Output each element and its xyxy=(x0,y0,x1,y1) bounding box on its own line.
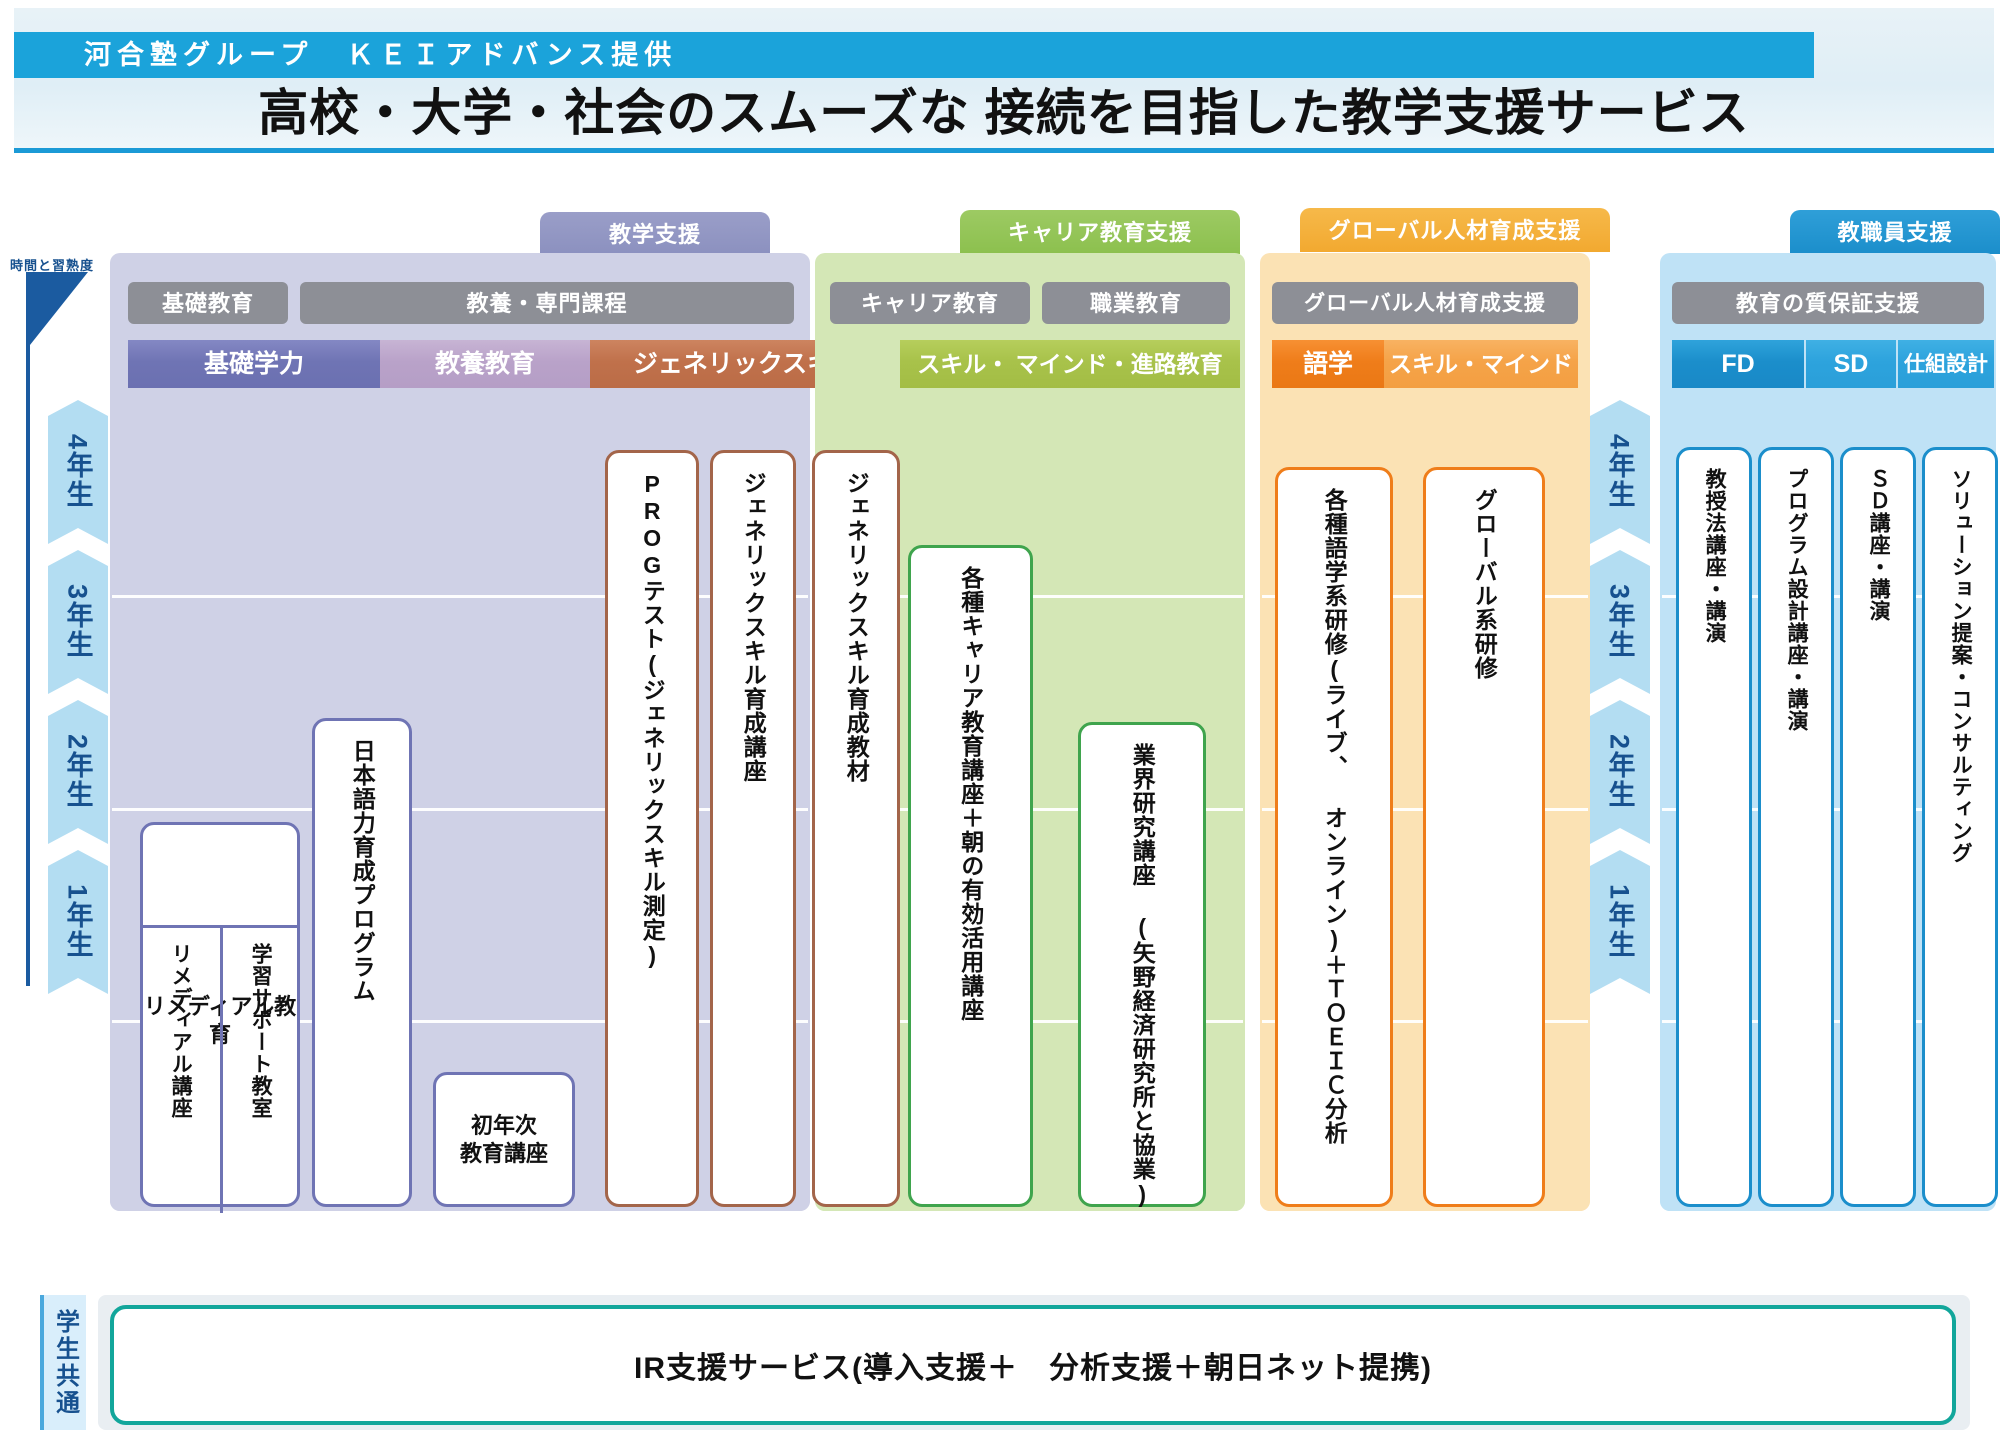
diagram-page: 河合塾グループ ＫＥＩアドバンス提供 高校・大学・社会のスムーズな 接続を目指し… xyxy=(0,0,2008,1446)
category-band-kiso-gakuryoku: 基礎学力 xyxy=(128,340,380,388)
card-generic-material[interactable]: ジェネリックスキル育成教材 xyxy=(812,450,900,1207)
card-remedial-group[interactable]: リメディアル教育 リメディアル講座 学習サポート教室 xyxy=(140,822,300,1207)
card-label: PROGテスト(ジェネリックスキル測定) xyxy=(639,471,665,969)
year-divider xyxy=(112,808,808,811)
page-title: 高校・大学・社会のスムーズな 接続を目指した教学支援サービス xyxy=(14,82,1994,144)
card-language-training[interactable]: 各種語学系研修(ライブ、 オンライン)＋ＴＯＥＩＣ分析 xyxy=(1275,467,1393,1207)
category-band-sd: SD xyxy=(1806,340,1896,388)
student-common-label: 学生共通 xyxy=(48,1309,83,1417)
card-first-year[interactable]: 初年次 教育講座 xyxy=(433,1072,575,1207)
gray-band-shitsuhosho: 教育の質保証支援 xyxy=(1672,282,1984,324)
gray-band-shokugyo-kyoiku: 職業教育 xyxy=(1042,282,1230,324)
gray-band-career-kyoiku: キャリア教育 xyxy=(830,282,1030,324)
card-label: ＳＤ講座・講演 xyxy=(1866,468,1890,622)
student-common-side-label: 学生共通 xyxy=(40,1295,86,1430)
category-band-gogaku: 語学 xyxy=(1272,340,1384,388)
year-scale-right: 4年生 3年生 2年生 1年生 xyxy=(1590,400,1650,1000)
gray-band-kyoyo-senmon: 教養・専門課程 xyxy=(300,282,794,324)
gray-band-global-jinzai: グローバル人材育成支援 xyxy=(1272,282,1578,324)
card-label: ジェネリックスキル育成教材 xyxy=(843,471,869,783)
card-label: 業界研究講座 (矢野経済研究所と協業) xyxy=(1129,743,1155,1208)
card-generic-course[interactable]: ジェネリックスキル育成講座 xyxy=(710,450,796,1207)
card-label: 教授法講座・講演 xyxy=(1702,468,1726,644)
year-chip-1: 1年生 xyxy=(48,850,108,994)
year-chip-3: 3年生 xyxy=(48,550,108,694)
provider-band-label: 河合塾グループ ＫＥＩアドバンス提供 xyxy=(14,32,1814,78)
tab-career-kyoiku-shien[interactable]: キャリア教育支援 xyxy=(960,210,1240,254)
card-career-course[interactable]: 各種キャリア教育講座＋朝の有効活用講座 xyxy=(908,545,1033,1207)
tab-kyoshokuin-shien[interactable]: 教職員支援 xyxy=(1790,210,2000,254)
year-chip-1: 1年生 xyxy=(1590,850,1650,994)
card-label: ジェネリックスキル育成講座 xyxy=(740,471,766,783)
card-solution[interactable]: ソリューション提案・コンサルティング xyxy=(1922,447,1998,1207)
year-label: 4年生 xyxy=(1601,434,1640,509)
year-divider xyxy=(112,595,808,598)
year-label: 1年生 xyxy=(1601,884,1640,959)
card-industry-course[interactable]: 業界研究講座 (矢野経済研究所と協業) xyxy=(1078,722,1206,1207)
card-prog-test[interactable]: PROGテスト(ジェネリックスキル測定) xyxy=(605,450,699,1207)
category-band-fd: FD xyxy=(1672,340,1804,388)
card-label: グローバル系研修 xyxy=(1471,488,1497,680)
year-chip-2: 2年生 xyxy=(48,700,108,844)
bottom-bar-shell: IR支援サービス(導入支援＋ 分析支援＋朝日ネット提携) xyxy=(98,1295,1970,1430)
category-band-shikumi-sekkei: 仕組設計 xyxy=(1898,340,1994,388)
year-chip-4: 4年生 xyxy=(1590,400,1650,544)
year-label: 3年生 xyxy=(1601,584,1640,659)
year-chip-4: 4年生 xyxy=(48,400,108,544)
year-label: 2年生 xyxy=(1601,734,1640,809)
card-label: 学習サポート教室 xyxy=(248,943,272,1213)
category-band-kyoyo-kyoiku: 教養教育 xyxy=(380,340,590,388)
year-label: 1年生 xyxy=(59,884,98,959)
tab-global-jinzai-shien[interactable]: グローバル人材育成支援 xyxy=(1300,208,1610,252)
category-band-skill-mind-shinro: スキル・ マインド・進路教育 xyxy=(900,340,1240,388)
ir-support-label: IR支援サービス(導入支援＋ 分析支援＋朝日ネット提携) xyxy=(634,1343,1432,1387)
provider-band: 河合塾グループ ＫＥＩアドバンス提供 xyxy=(14,32,1814,78)
gray-band-kiso-kyoiku: 基礎教育 xyxy=(128,282,288,324)
bottom-common-section: 学生共通 IR支援サービス(導入支援＋ 分析支援＋朝日ネット提携) xyxy=(40,1295,1970,1430)
year-label: 4年生 xyxy=(59,434,98,509)
page-header: 河合塾グループ ＫＥＩアドバンス提供 高校・大学・社会のスムーズな 接続を目指し… xyxy=(14,8,1994,153)
card-program-design[interactable]: プログラム設計講座・講演 xyxy=(1758,447,1834,1207)
year-scale-left: 4年生 3年生 2年生 1年生 xyxy=(48,400,108,1000)
card-teaching-method[interactable]: 教授法講座・講演 xyxy=(1676,447,1752,1207)
year-label: 2年生 xyxy=(59,734,98,809)
tab-kyogaku-shien[interactable]: 教学支援 xyxy=(540,212,770,256)
axis-arrow-head xyxy=(26,272,88,350)
axis-line xyxy=(26,286,30,986)
year-label: 3年生 xyxy=(59,584,98,659)
year-chip-3: 3年生 xyxy=(1590,550,1650,694)
card-label: 初年次 教育講座 xyxy=(436,1112,572,1167)
card-label: プログラム設計講座・講演 xyxy=(1784,468,1808,732)
category-band-skill-mind: スキル・マインド xyxy=(1384,340,1578,388)
card-label: 日本語力育成プログラム xyxy=(349,739,375,1003)
card-label: 各種語学系研修(ライブ、 オンライン)＋ＴＯＥＩＣ分析 xyxy=(1321,488,1347,1145)
ir-support-bar[interactable]: IR支援サービス(導入支援＋ 分析支援＋朝日ネット提携) xyxy=(110,1305,1956,1425)
card-jp-language[interactable]: 日本語力育成プログラム xyxy=(312,718,412,1207)
card-sd-lecture[interactable]: ＳＤ講座・講演 xyxy=(1840,447,1916,1207)
year-chip-2: 2年生 xyxy=(1590,700,1650,844)
card-global-training[interactable]: グローバル系研修 xyxy=(1423,467,1545,1207)
card-label: 各種キャリア教育講座＋朝の有効活用講座 xyxy=(957,566,983,1022)
card-label: ソリューション提案・コンサルティング xyxy=(1948,468,1972,864)
card-label: リメディアル講座 xyxy=(168,943,192,1213)
